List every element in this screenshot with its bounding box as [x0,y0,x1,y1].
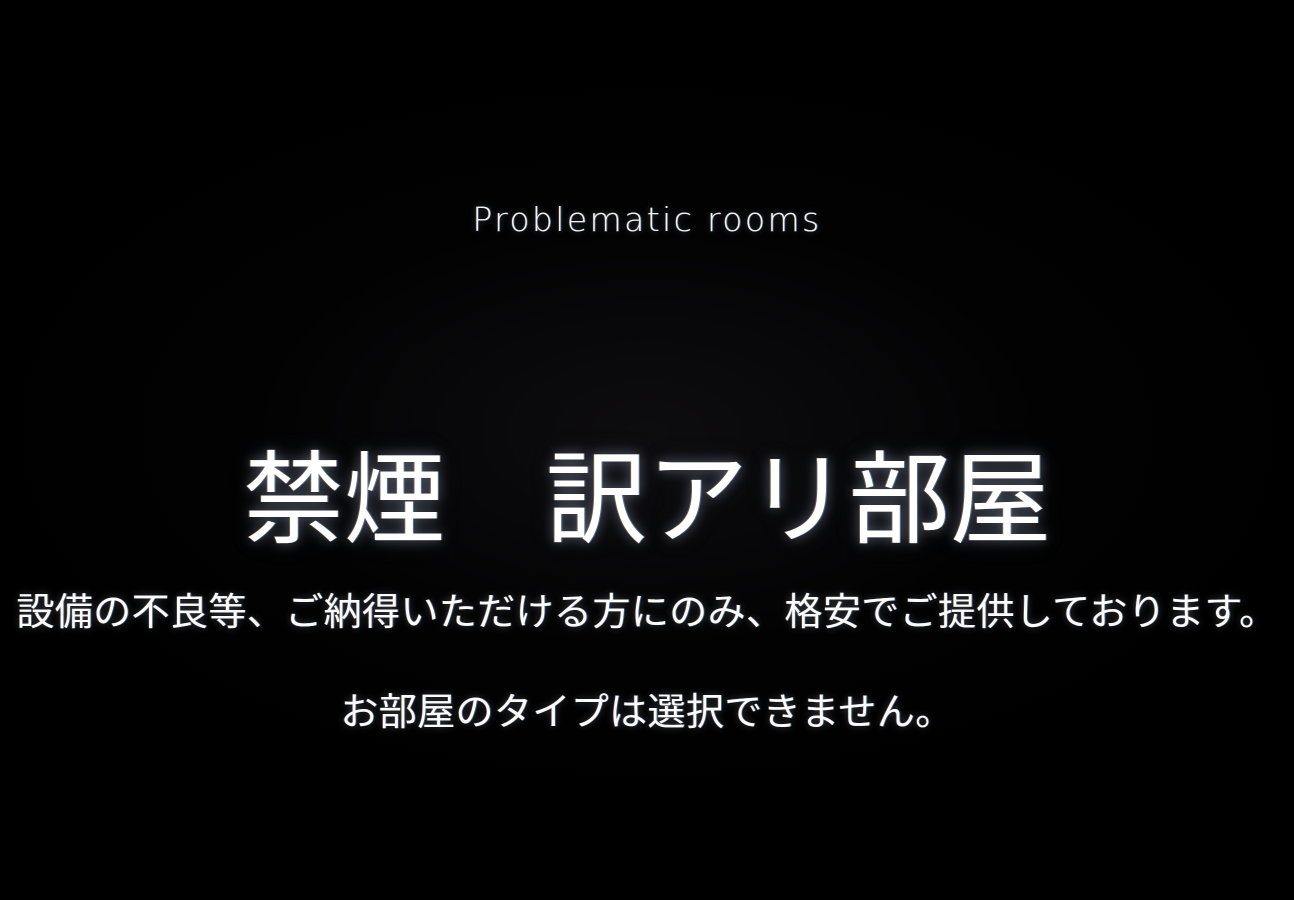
slide-body-line-2: お部屋のタイプは選択できません。 [0,686,1294,738]
slide-body-line-1: 設備の不良等、ご納得いただける方にのみ、格安でご提供しております。 [0,586,1294,638]
slide-eyebrow-title: Problematic rooms [0,198,1294,242]
slide-root: Problematic rooms 禁煙 訳アリ部屋 設備の不良等、ご納得いただ… [0,0,1294,900]
slide-headline: 禁煙 訳アリ部屋 [0,436,1294,564]
slide-content: Problematic rooms 禁煙 訳アリ部屋 設備の不良等、ご納得いただ… [0,0,1294,900]
